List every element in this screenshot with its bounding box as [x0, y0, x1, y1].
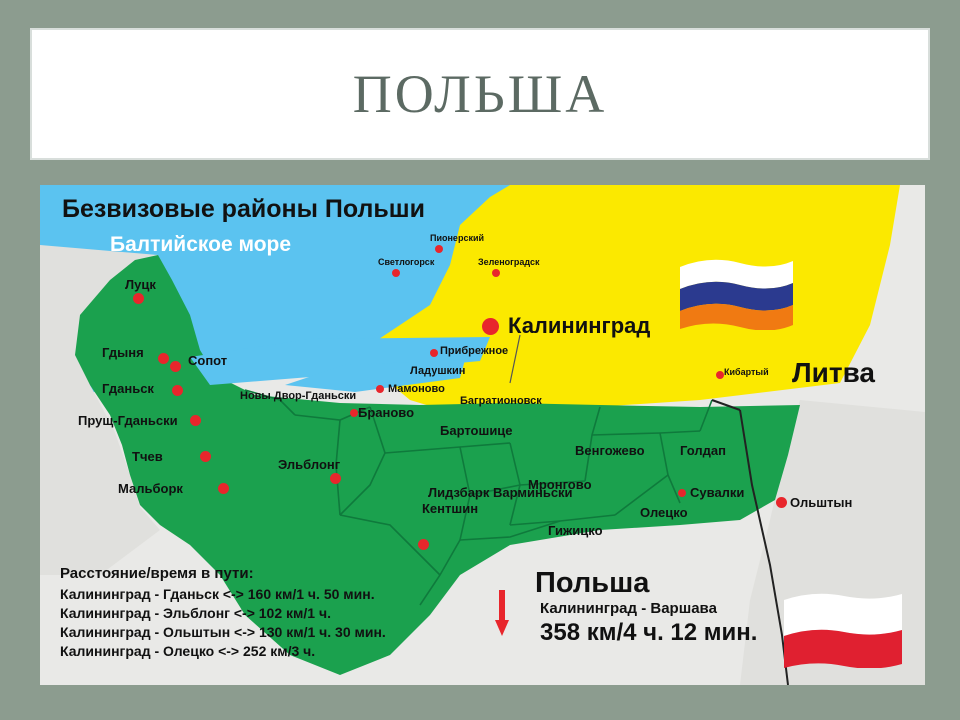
marker-olsztyn — [418, 539, 429, 550]
map-image: Безвизовые районы Польши Балтийское море… — [40, 185, 925, 685]
city-label-gdansk: Гданьск — [102, 381, 154, 396]
marker-sopot — [170, 361, 181, 372]
warsaw-distance-value: 358 км/4 ч. 12 мин. — [540, 619, 790, 647]
baltic-sea-label: Балтийское море — [110, 233, 291, 257]
city-label-tczew: Тчев — [132, 449, 163, 464]
city-label-warminski: Кентшин — [422, 501, 478, 516]
marker-gdynia — [158, 353, 169, 364]
legend-row: Калининград - Эльблонг <-> 102 км/1 ч. — [60, 604, 480, 623]
city-label-ladushkin: Ладушкин — [410, 365, 465, 377]
legend-row: Калининград - Олецко <-> 252 км/3 ч. — [60, 642, 480, 661]
page-title: ПОЛЬША — [353, 63, 607, 125]
city-label-lutsk: Луцк — [125, 277, 156, 292]
city-label-nowy-dwor-gdanski: Новы Двор-Гданьски — [240, 390, 356, 402]
marker-elblag — [330, 473, 341, 484]
down-arrow-icon — [495, 590, 509, 636]
city-label-mragowo: Гижицко — [548, 523, 603, 538]
city-label-malbork: Мальборк — [118, 481, 183, 496]
marker-tczew — [200, 451, 211, 462]
country-label-poland: Польша — [535, 567, 649, 600]
kaliningrad-marker — [482, 318, 499, 335]
marker-gdansk — [172, 385, 183, 396]
marker-olecko — [678, 489, 686, 497]
marker-zelenogradsk — [492, 269, 500, 277]
warsaw-route-label: Калининград - Варшава — [540, 600, 790, 617]
warsaw-distance-note: Калининград - Варшава 358 км/4 ч. 12 мин… — [540, 600, 790, 647]
city-label-bagrationovsk: Багратионовск — [460, 395, 542, 407]
city-label-gizycko: Олецко — [640, 505, 688, 520]
city-label-prusz-gdanski: Прущ-Гданьски — [78, 413, 178, 428]
city-label-suwalki: Ольштын — [790, 495, 852, 510]
city-label-olecko: Сувалки — [690, 485, 744, 500]
title-band: ПОЛЬША — [30, 28, 930, 160]
slide: ПОЛЬША — [0, 0, 960, 720]
legend-title: Расстояние/время в пути: — [60, 565, 480, 582]
marker-svetlogorsk — [392, 269, 400, 277]
marker-pionersky — [435, 245, 443, 253]
city-label-pribrezhnoe: Прибрежное — [440, 345, 508, 357]
marker-suwalki — [776, 497, 787, 508]
poland-flag — [780, 590, 905, 668]
russia-flag — [675, 255, 795, 330]
city-label-svetlogorsk: Светлогорск — [378, 257, 434, 267]
city-label-gdynia: Гдыня — [102, 345, 144, 360]
city-label-kibartay: Кибартый — [724, 367, 769, 377]
marker-pribrezhnoe — [430, 349, 438, 357]
marker-mamonovo — [376, 385, 384, 393]
city-label-kaliningrad: Калининград — [508, 313, 650, 339]
marker-malbork — [218, 483, 229, 494]
city-label-branevo: Браново — [358, 405, 414, 420]
city-label-bartoszyce: Бартошице — [440, 423, 513, 438]
marker-lutsk — [133, 293, 144, 304]
legend-row: Калининград - Гданьск <-> 160 км/1 ч. 50… — [60, 585, 480, 604]
city-label-wegorzewo: Венгожево — [575, 443, 645, 458]
map-canvas: Безвизовые районы Польши Балтийское море… — [40, 185, 925, 685]
city-label-mamonovo: Мамоново — [388, 383, 445, 395]
legend-row: Калининград - Ольштын <-> 130 км/1 ч. 30… — [60, 623, 480, 642]
marker-branevo — [350, 409, 358, 417]
city-label-zelenogradsk: Зеленоградск — [478, 257, 540, 267]
marker-prusz-gdanski — [190, 415, 201, 426]
city-label-goldap: Голдап — [680, 443, 726, 458]
city-label-sopot: Сопот — [188, 353, 227, 368]
legend-distances: Расстояние/время в пути: Калининград - Г… — [60, 565, 480, 661]
city-label-pionersky: Пионерский — [430, 233, 484, 243]
map-title-label: Безвизовые районы Польши — [62, 195, 425, 224]
country-label-lithuania: Литва — [792, 357, 875, 389]
city-label-ketrzyn: Мронгово — [528, 477, 592, 492]
city-label-elblag: Эльблонг — [278, 457, 340, 472]
marker-kibartay — [716, 371, 724, 379]
